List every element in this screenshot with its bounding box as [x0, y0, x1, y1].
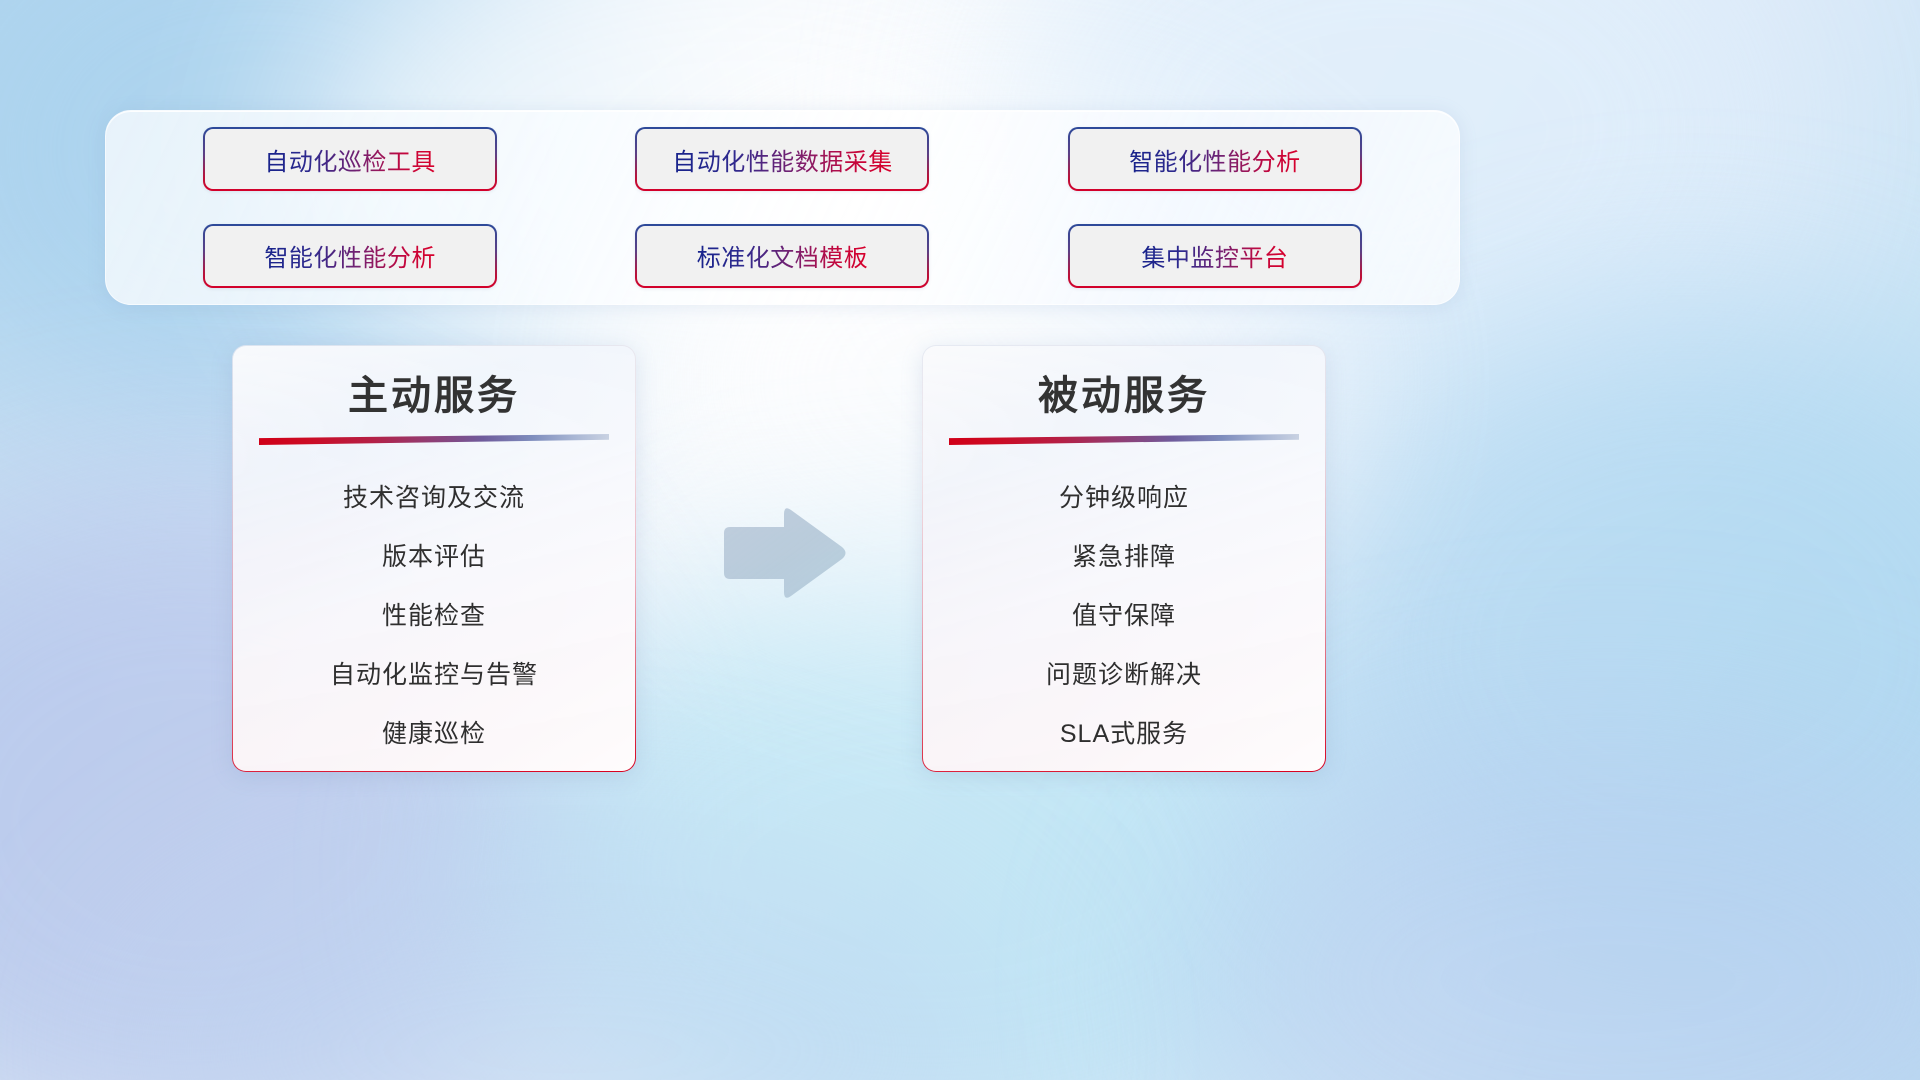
service-list-item: 版本评估 — [382, 528, 486, 587]
title-divider — [949, 434, 1299, 445]
service-item-list: 分钟级响应 紧急排障 值守保障 问题诊断解决 SLA式服务 — [923, 469, 1325, 764]
capability-pill-3[interactable]: 智能化性能分析 — [1068, 127, 1362, 191]
capability-pill-label: 自动化性能数据采集 — [672, 142, 893, 177]
capability-pill-6[interactable]: 集中监控平台 — [1068, 224, 1362, 288]
capability-pill-4[interactable]: 智能化性能分析 — [203, 224, 497, 288]
card-title: 被动服务 — [923, 372, 1325, 420]
service-list-item: 健康巡检 — [382, 705, 486, 764]
title-divider — [259, 434, 609, 445]
service-list-item: SLA式服务 — [1060, 705, 1188, 764]
capability-pill-label: 智能化性能分析 — [1129, 142, 1301, 177]
right-arrow-icon — [718, 503, 850, 603]
capability-pill-label: 标准化文档模板 — [697, 238, 869, 273]
capability-pill-5[interactable]: 标准化文档模板 — [635, 224, 929, 288]
service-list-item: 问题诊断解决 — [1046, 646, 1202, 705]
service-list-item: 紧急排障 — [1072, 528, 1176, 587]
capability-pill-label: 自动化巡检工具 — [264, 142, 436, 177]
capabilities-panel: 自动化巡检工具 自动化性能数据采集 智能化性能分析 智能化性能分析 标准化文档模… — [105, 110, 1460, 305]
service-list-item: 分钟级响应 — [1059, 469, 1189, 528]
capability-pill-2[interactable]: 自动化性能数据采集 — [635, 127, 929, 191]
service-list-item: 自动化监控与告警 — [330, 646, 538, 705]
service-list-item: 技术咨询及交流 — [343, 469, 525, 528]
service-list-item: 性能检查 — [382, 587, 486, 646]
capability-pill-label: 智能化性能分析 — [264, 238, 436, 273]
service-list-item: 值守保障 — [1072, 587, 1176, 646]
service-card-reactive: 被动服务 分钟级响应 紧急排障 值守保障 问题诊断解决 SLA式服务 — [922, 345, 1326, 772]
capability-pill-1[interactable]: 自动化巡检工具 — [203, 127, 497, 191]
capability-pill-label: 集中监控平台 — [1141, 238, 1288, 273]
card-title: 主动服务 — [233, 372, 635, 420]
service-card-proactive: 主动服务 技术咨询及交流 版本评估 性能检查 自动化监控与告警 健康巡检 — [232, 345, 636, 772]
service-item-list: 技术咨询及交流 版本评估 性能检查 自动化监控与告警 健康巡检 — [233, 469, 635, 764]
